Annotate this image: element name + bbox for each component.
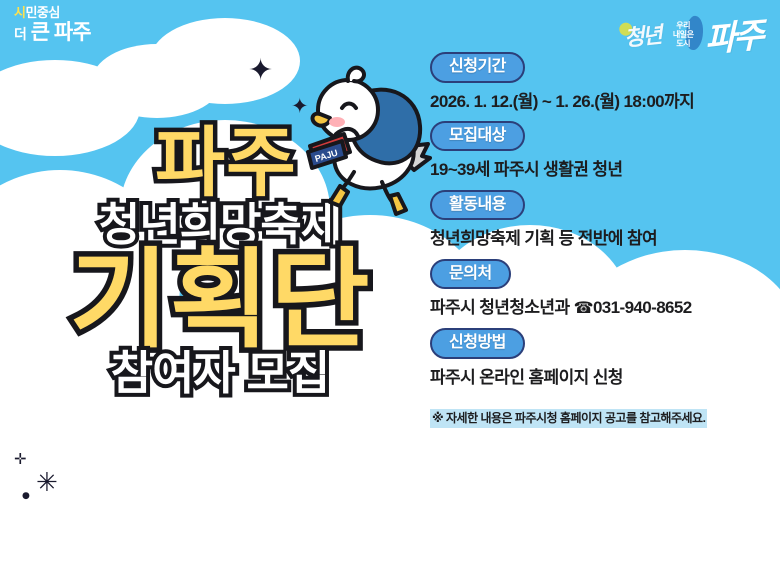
- text-application-method: 파주시 온라인 홈페이지 신청: [430, 367, 780, 388]
- headline-row-4: 참여자 모집: [0, 352, 440, 396]
- city-slogan-mark: 우리 내일은 도시: [670, 19, 697, 51]
- paju-city-mark: 파주: [705, 7, 762, 61]
- headline-paju: 파주: [155, 128, 297, 200]
- city-logo-tagline-rest: 민중심: [25, 5, 59, 20]
- info-block-target: 모집대상 19~39세 파주시 생활권 청년: [430, 121, 780, 181]
- contact-phone-number: 031-940-8652: [593, 298, 692, 317]
- sparkle-icon-4: ✛: [14, 452, 27, 467]
- info-block-activity: 활동내용 청년희망축제 기획 등 전반에 참여: [430, 190, 780, 250]
- city-logo-name-main: 큰 파주: [31, 21, 91, 44]
- mascot-illustration: PAJU: [296, 52, 446, 227]
- sparkle-icon-5: ●: [22, 492, 30, 501]
- headline-recruit: 참여자 모집: [111, 352, 329, 396]
- footnote-notice: ※ 자세한 내용은 파주시청 홈페이지 공고를 참고해주세요.: [430, 409, 707, 428]
- paju-bird-mascot: PAJU: [296, 52, 446, 232]
- city-logo-name-small: 더: [14, 26, 26, 42]
- brand-logo-right: 청년 우리 내일은 도시 파주: [624, 10, 762, 59]
- badge-application-period: 신청기간: [430, 52, 525, 83]
- headline-row-3: 기획단: [0, 247, 440, 352]
- info-block-method: 신청방법 파주시 온라인 홈페이지 신청: [430, 328, 780, 388]
- contact-department: 파주시 청년청소년과: [430, 298, 574, 317]
- badge-recruitment-target: 모집대상: [430, 121, 525, 152]
- badge-application-method: 신청방법: [430, 328, 525, 359]
- city-logo-name: 더 큰 파주: [14, 22, 91, 43]
- city-logo-tagline-accent: 시: [14, 5, 25, 20]
- city-slogan-line1: 우리: [673, 21, 694, 30]
- text-contact: 파주시 청년청소년과 ☎031-940-8652: [430, 297, 780, 319]
- city-slogan-line3: 도시: [673, 39, 694, 48]
- sparkle-icon-1: ✦: [248, 56, 273, 86]
- badge-contact: 문의처: [430, 259, 511, 290]
- info-block-period: 신청기간 2026. 1. 12.(월) ~ 1. 26.(월) 18:00까지: [430, 52, 780, 112]
- youth-brand-mark: 청년: [623, 17, 663, 53]
- info-block-contact: 문의처 파주시 청년청소년과 ☎031-940-8652: [430, 259, 780, 320]
- badge-activity-content: 활동내용: [430, 190, 525, 221]
- text-recruitment-target: 19~39세 파주시 생활권 청년: [430, 159, 780, 180]
- sparkle-icon-3: ✳: [36, 470, 58, 496]
- text-activity-content: 청년희망축제 기획 등 전반에 참여: [430, 228, 780, 249]
- headline-planning-team: 기획단: [69, 249, 370, 352]
- info-panel: 신청기간 2026. 1. 12.(월) ~ 1. 26.(월) 18:00까지…: [430, 52, 780, 428]
- city-slogan-line2: 내일은: [673, 30, 694, 39]
- city-logo-tagline: 시민중심: [14, 6, 91, 19]
- city-logo-left: 시민중심 더 큰 파주: [14, 6, 91, 43]
- poster-root: 시민중심 더 큰 파주 청년 우리 내일은 도시 파주 ✦ ✦ ✳ ✛ ● 파주…: [0, 0, 780, 562]
- phone-icon: ☎: [574, 300, 593, 317]
- text-application-period: 2026. 1. 12.(월) ~ 1. 26.(월) 18:00까지: [430, 91, 780, 112]
